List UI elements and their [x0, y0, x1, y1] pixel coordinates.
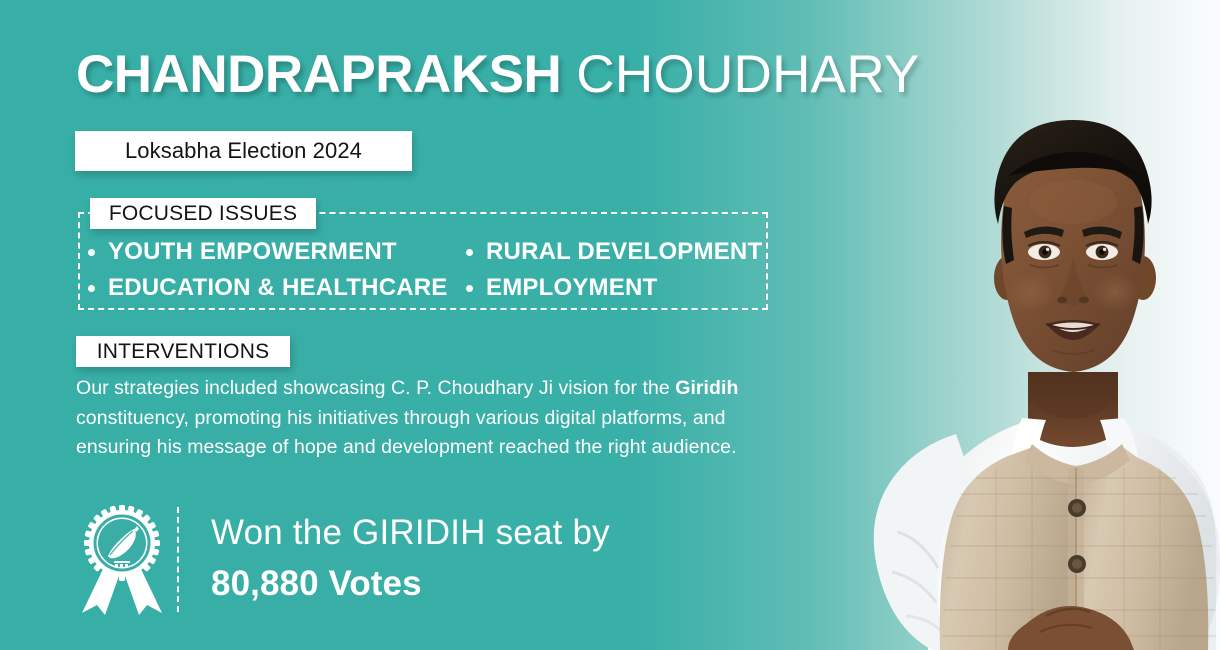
issue-label: RURAL DEVELOPMENT [486, 238, 762, 266]
title-last-name: CHOUDHARY [576, 45, 919, 104]
bullet-dot-icon [466, 285, 473, 292]
interventions-text-part1: Our strategies included showcasing C. P.… [76, 377, 675, 399]
list-item: EDUCATION & HEALTHCARE [88, 274, 466, 302]
interventions-text-part2: constituency, promoting his initiatives … [76, 407, 737, 459]
issue-label: YOUTH EMPOWERMENT [108, 238, 397, 266]
portrait-body [874, 120, 1220, 650]
bullet-dot-icon [466, 249, 473, 256]
focused-issues-list: YOUTH EMPOWERMENT RURAL DEVELOPMENT EDUC… [88, 238, 778, 303]
list-item: EMPLOYMENT [466, 274, 778, 302]
bullet-dot-icon [88, 249, 95, 256]
focused-issues-label: FOCUSED ISSUES [90, 198, 316, 229]
page-title: CHANDRAPRAKSH CHOUDHARY [76, 48, 920, 101]
jacket-buttons [1068, 499, 1086, 629]
interventions-label: INTERVENTIONS [76, 336, 290, 367]
result-vote-count: 80,880 Votes [211, 561, 610, 607]
campaign-banner: CHANDRAPRAKSH CHOUDHARY Loksabha Electio… [0, 0, 1220, 650]
list-item: RURAL DEVELOPMENT [466, 238, 778, 266]
bullet-dot-icon [88, 285, 95, 292]
result-headline: Won the GIRIDIH seat by [211, 512, 610, 555]
issue-label: EMPLOYMENT [486, 274, 657, 302]
award-rosette-icon [74, 503, 170, 615]
interventions-body: Our strategies included showcasing C. P.… [76, 374, 748, 463]
candidate-portrait [746, 16, 1220, 650]
result-section: Won the GIRIDIH seat by 80,880 Votes [74, 503, 610, 615]
interventions-highlight: Giridih [675, 377, 738, 399]
title-first-name: CHANDRAPRAKSH [76, 45, 561, 104]
result-text-block: Won the GIRIDIH seat by 80,880 Votes [211, 512, 610, 606]
result-divider [177, 507, 179, 612]
issue-label: EDUCATION & HEALTHCARE [108, 274, 448, 302]
list-item: YOUTH EMPOWERMENT [88, 238, 466, 266]
election-badge: Loksabha Election 2024 [75, 131, 412, 171]
